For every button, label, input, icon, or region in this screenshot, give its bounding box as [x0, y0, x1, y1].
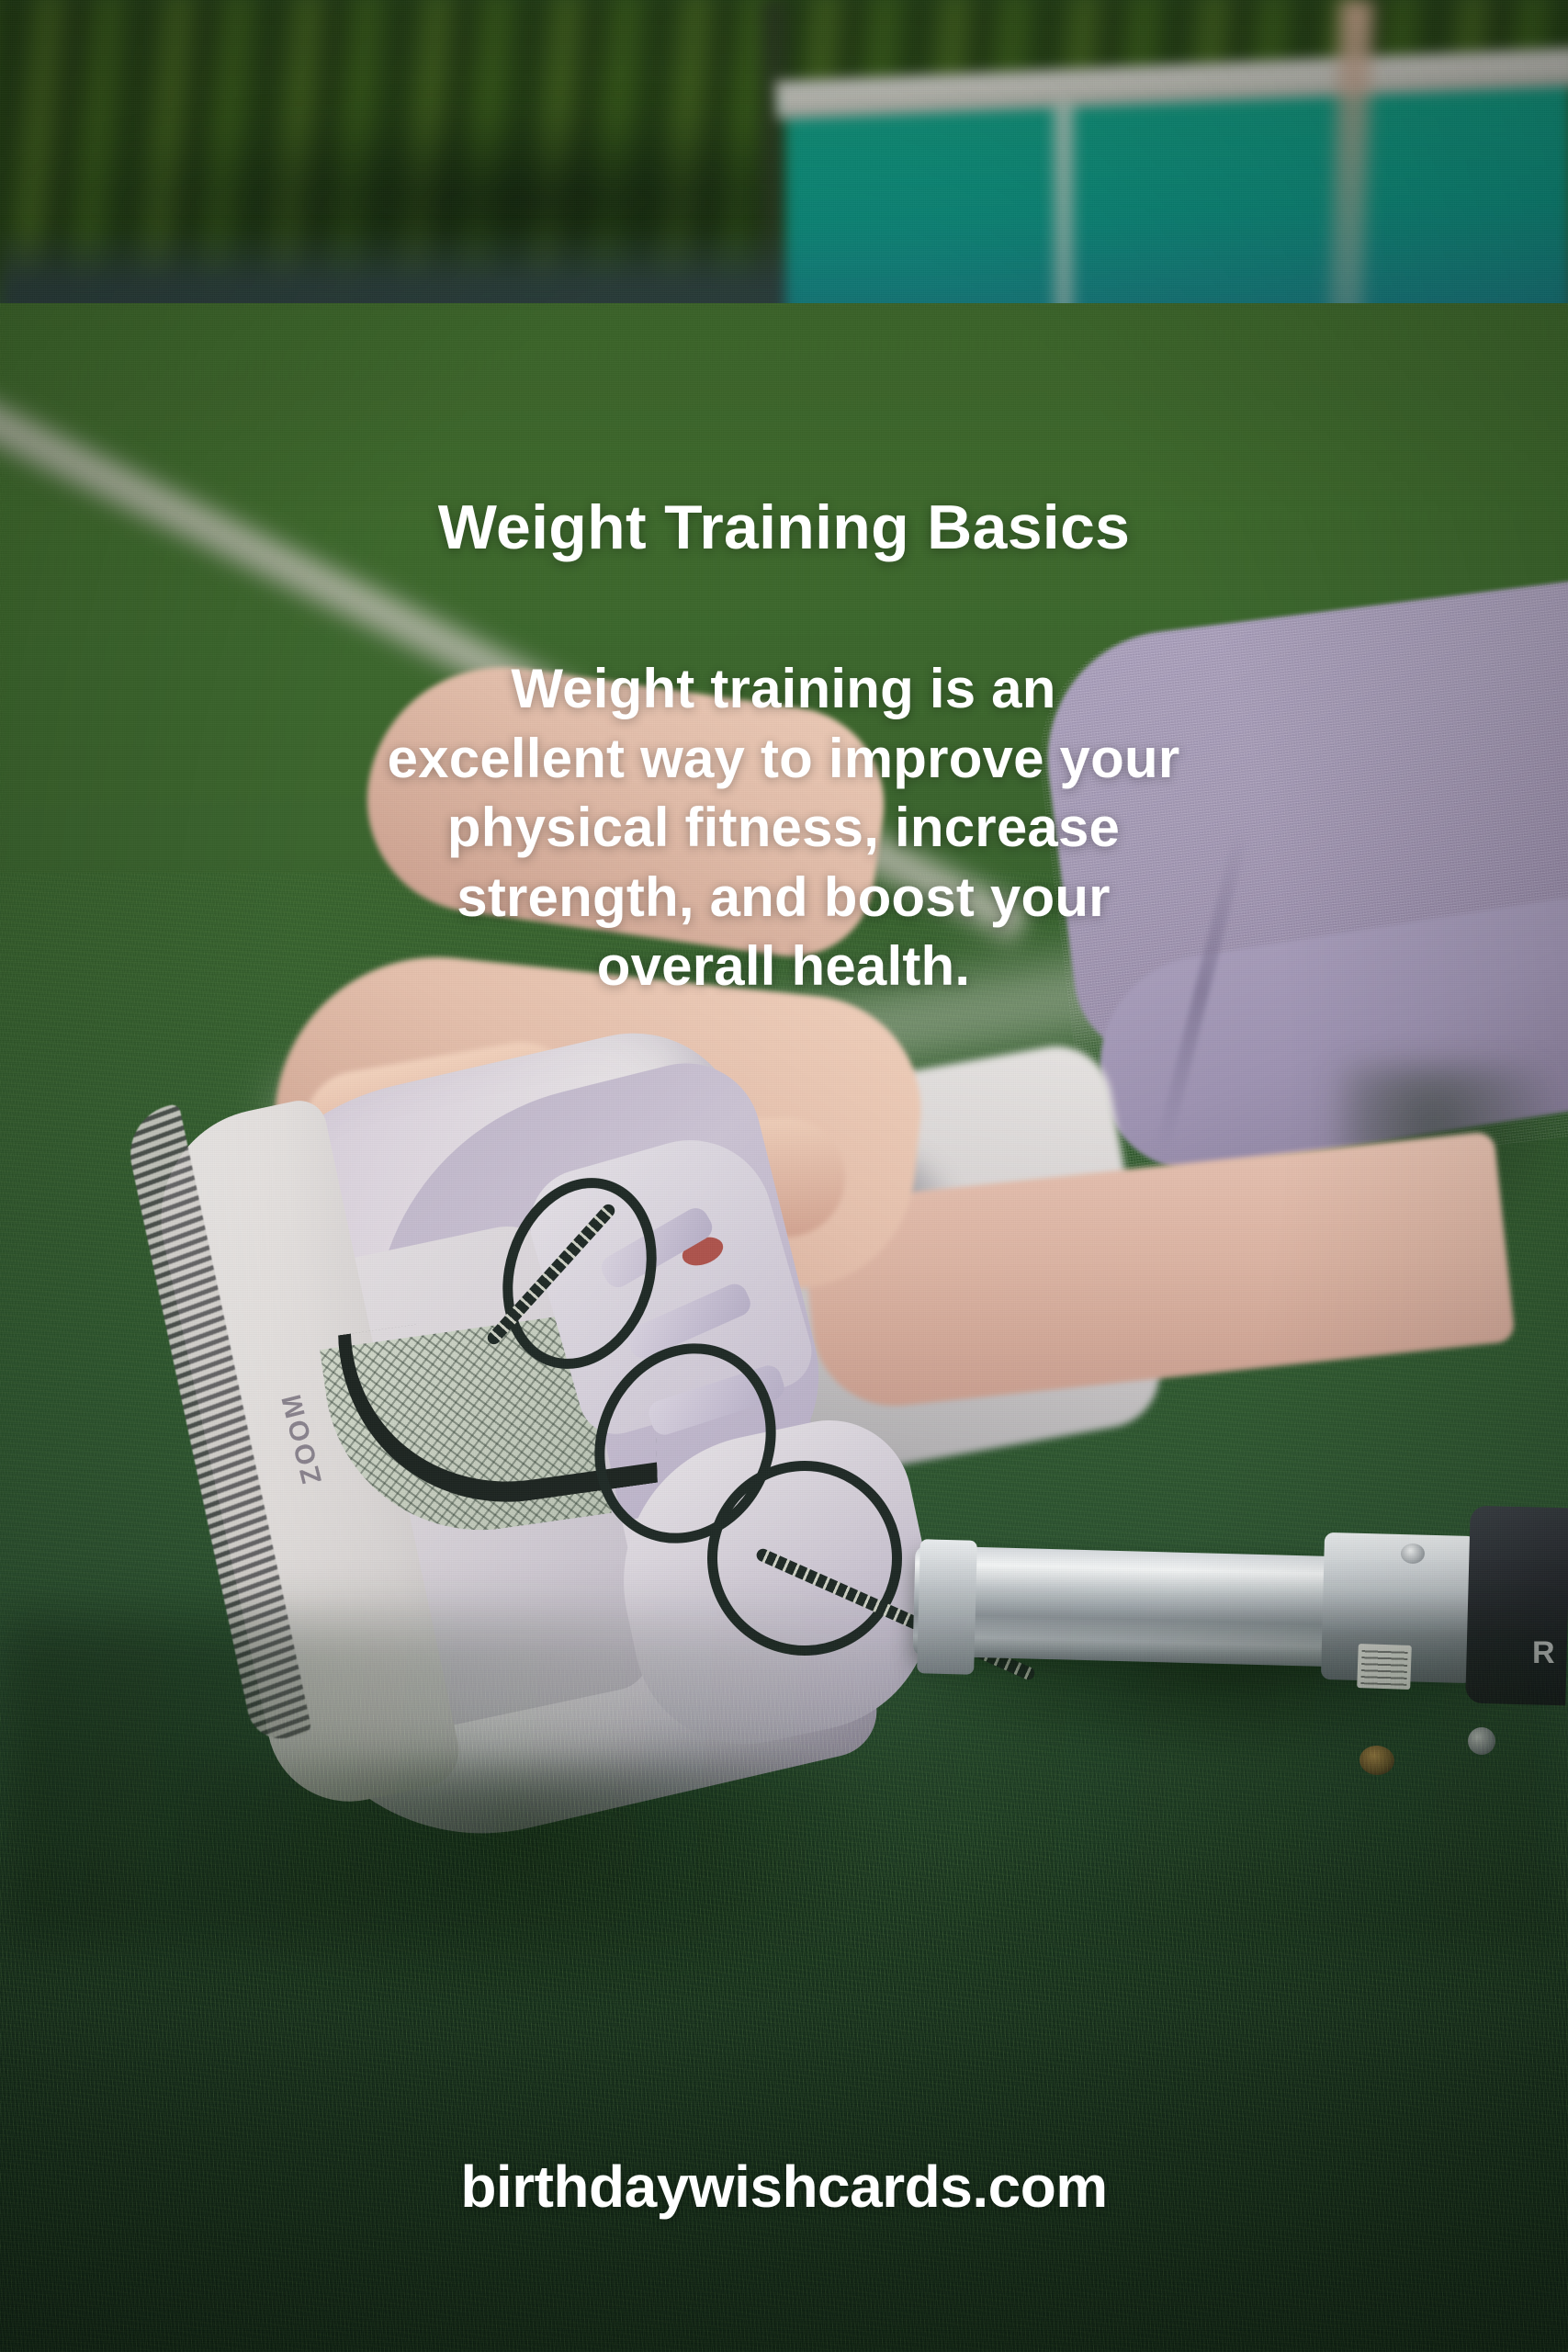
body-line-4: strength, and boost your: [164, 863, 1404, 933]
body-line-2: excellent way to improve your: [164, 724, 1404, 794]
body-line-5: overall health.: [164, 932, 1404, 1001]
card-title: Weight Training Basics: [0, 494, 1568, 560]
body-line-3: physical fitness, increase: [164, 793, 1404, 863]
social-quote-card: ZOOM R: [0, 0, 1568, 2352]
text-overlay: Weight Training Basics Weight training i…: [0, 0, 1568, 2352]
website-watermark: birthdaywishcards.com: [0, 2153, 1568, 2221]
body-line-1: Weight training is an: [164, 654, 1404, 724]
card-body: Weight training is an excellent way to i…: [164, 654, 1404, 1001]
